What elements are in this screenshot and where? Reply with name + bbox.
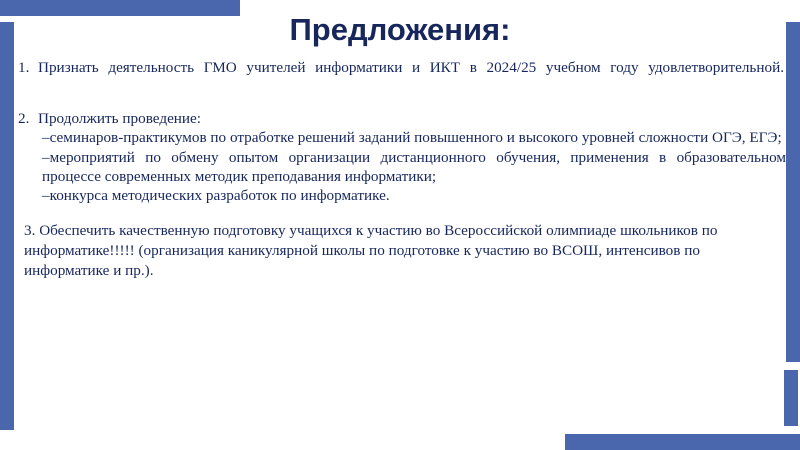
list-item-2-number: 2. bbox=[14, 109, 38, 128]
slide-canvas: Предложения: 1. Признать деятельность ГМ… bbox=[0, 0, 800, 450]
spacer bbox=[14, 96, 786, 109]
list-item-1: 1. Признать деятельность ГМО учителей ин… bbox=[14, 58, 786, 96]
spacer bbox=[14, 205, 786, 221]
slide-body: 1. Признать деятельность ГМО учителей ин… bbox=[14, 58, 786, 282]
right-lower-vertical-bar bbox=[784, 370, 798, 426]
sub-item-contest: –конкурса методических разработок по инф… bbox=[38, 186, 786, 205]
list-item-3-text: 3. Обеспечить качественную подготовку уч… bbox=[24, 221, 786, 282]
bottom-right-horizontal-bar bbox=[565, 434, 800, 450]
list-item-1-number: 1. bbox=[14, 58, 38, 77]
sub-item-seminars: –семинаров-практикумов по отработке реше… bbox=[38, 128, 786, 147]
list-item-1-text: Признать деятельность ГМО учителей инфор… bbox=[38, 58, 786, 96]
sub-item-events: –мероприятий по обмену опытом организаци… bbox=[38, 148, 786, 186]
left-vertical-bar bbox=[0, 22, 14, 430]
list-item-2-text: Продолжить проведение: bbox=[38, 109, 786, 128]
list-item-2: 2. Продолжить проведение: bbox=[14, 109, 786, 128]
right-vertical-bar bbox=[786, 22, 800, 362]
page-title: Предложения: bbox=[0, 14, 800, 45]
